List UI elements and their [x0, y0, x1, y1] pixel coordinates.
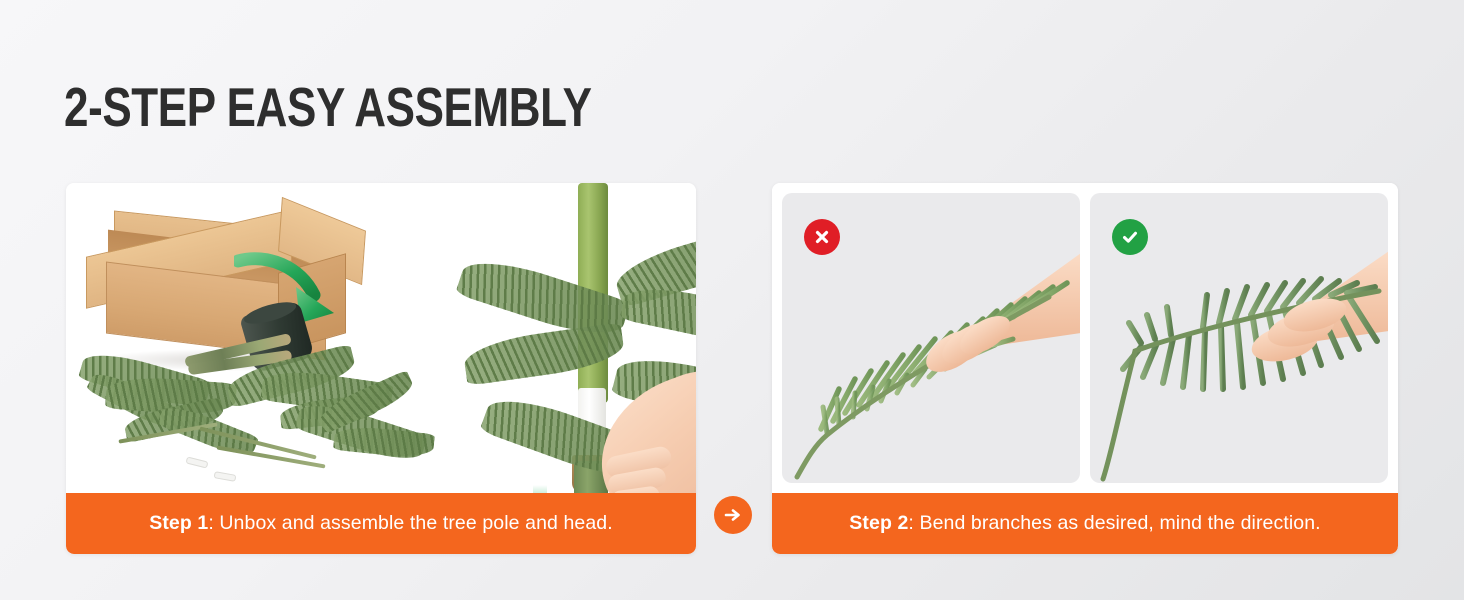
- comparison-pane-wrong: [782, 193, 1080, 483]
- step-1-text: : Unbox and assemble the tree pole and h…: [208, 512, 612, 535]
- step-1-label: Step 1: [149, 512, 208, 535]
- frond-stem-tip: [214, 471, 237, 482]
- step-2-caption: Step 2: Bend branches as desired, mind t…: [772, 493, 1398, 554]
- comparison-pane-correct: [1090, 193, 1388, 483]
- page-title: 2-STEP EASY ASSEMBLY: [64, 76, 592, 138]
- arrow-right-icon: [723, 505, 743, 525]
- step-2-label: Step 2: [849, 512, 908, 535]
- green-up-down-arrows: [518, 485, 562, 493]
- step-2-comparison: [772, 183, 1398, 493]
- step-1-caption: Step 1: Unbox and assemble the tree pole…: [66, 493, 696, 554]
- cardboard-box: [84, 203, 369, 363]
- frond-stem-tip: [185, 456, 208, 468]
- check-icon: [1120, 227, 1140, 247]
- step-2-card: Step 2: Bend branches as desired, mind t…: [772, 183, 1398, 554]
- cross-icon: [813, 228, 831, 246]
- status-badge-wrong: [804, 219, 840, 255]
- status-badge-correct: [1112, 219, 1148, 255]
- step-1-illustration: [66, 183, 696, 493]
- step-connector-arrow[interactable]: [714, 496, 752, 534]
- step-1-card: Step 1: Unbox and assemble the tree pole…: [66, 183, 696, 554]
- step-2-text: : Bend branches as desired, mind the dir…: [908, 512, 1320, 535]
